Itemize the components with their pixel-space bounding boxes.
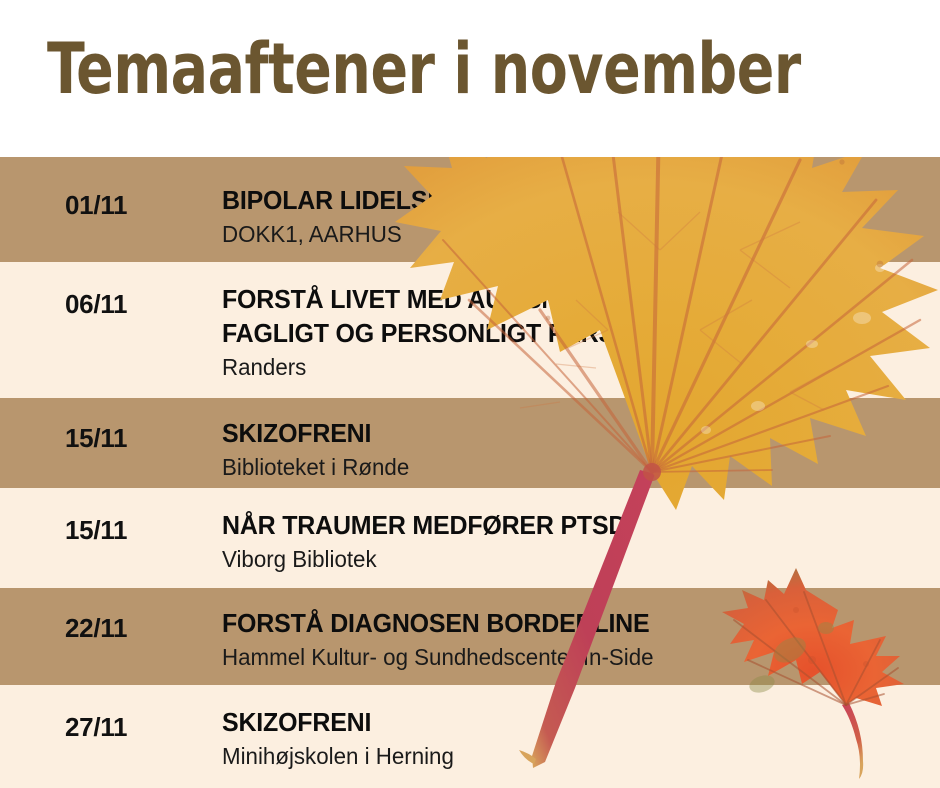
poster-canvas: 01/11 BIPOLAR LIDELSE DOKK1, AARHUS 06/1… (0, 0, 940, 788)
event-text-block: BIPOLAR LIDELSE DOKK1, AARHUS (222, 183, 940, 249)
event-venue: Biblioteket i Rønde (222, 452, 918, 482)
event-date: 01/11 (65, 190, 127, 221)
event-text-block: SKIZOFRENI Biblioteket i Rønde (222, 416, 940, 482)
event-date: 15/11 (65, 515, 127, 546)
event-venue: Hammel Kultur- og Sundhedscenter In-Side (222, 642, 918, 672)
event-row: 15/11 SKIZOFRENI Biblioteket i Rønde (0, 398, 940, 488)
event-text-block: SKIZOFRENI Minihøjskolen i Herning (222, 705, 940, 771)
event-title: NÅR TRAUMER MEDFØRER PTSD (222, 508, 911, 542)
event-row: 27/11 SKIZOFRENI Minihøjskolen i Herning (0, 685, 940, 788)
event-list: 01/11 BIPOLAR LIDELSE DOKK1, AARHUS 06/1… (0, 157, 940, 788)
event-date: 27/11 (65, 712, 127, 743)
event-venue: Minihøjskolen i Herning (222, 741, 918, 771)
event-title: FORSTÅ LIVET MED AUTISME UD FRA ET FAGLI… (222, 282, 911, 350)
event-title: BIPOLAR LIDELSE (222, 183, 911, 217)
poster-header: Temaaftener i november (0, 0, 940, 157)
event-title: FORSTÅ DIAGNOSEN BORDERLINE (222, 606, 911, 640)
event-text-block: FORSTÅ DIAGNOSEN BORDERLINE Hammel Kultu… (222, 606, 940, 672)
event-text-block: FORSTÅ LIVET MED AUTISME UD FRA ET FAGLI… (222, 282, 940, 382)
event-row: 06/11 FORSTÅ LIVET MED AUTISME UD FRA ET… (0, 262, 940, 398)
page-title: Temaaftener i november (47, 26, 801, 112)
event-date: 15/11 (65, 423, 127, 454)
event-venue: Viborg Bibliotek (222, 544, 918, 574)
event-row: 01/11 BIPOLAR LIDELSE DOKK1, AARHUS (0, 157, 940, 262)
event-date: 22/11 (65, 613, 127, 644)
event-date: 06/11 (65, 289, 127, 320)
event-row: 15/11 NÅR TRAUMER MEDFØRER PTSD Viborg B… (0, 488, 940, 588)
event-venue: DOKK1, AARHUS (222, 219, 918, 249)
event-text-block: NÅR TRAUMER MEDFØRER PTSD Viborg Bibliot… (222, 508, 940, 574)
event-row: 22/11 FORSTÅ DIAGNOSEN BORDERLINE Hammel… (0, 588, 940, 685)
event-title: SKIZOFRENI (222, 416, 911, 450)
event-venue: Randers (222, 352, 918, 382)
event-title: SKIZOFRENI (222, 705, 911, 739)
